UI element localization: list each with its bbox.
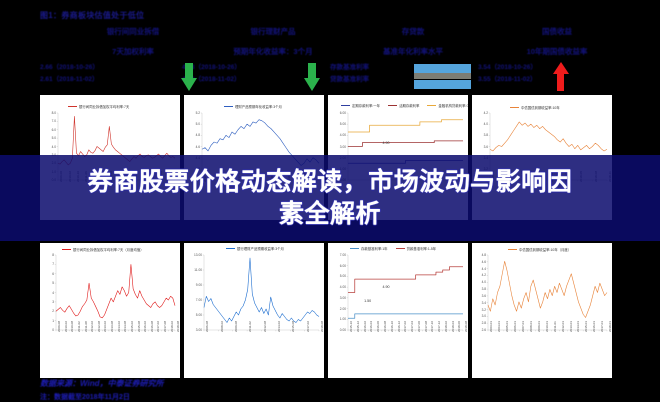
document-heading: 图1：券商板块估值处于低位 [40,10,144,21]
chart-5-legend: 银行间同业拆借加权平均利率:7天（月度均值） [62,247,144,252]
legend-swatch [508,249,517,250]
x-axis-tick: 2016-08 [150,321,154,332]
y-axis-tick: 5.00 [184,313,202,317]
x-axis-tick: 2004-01 [497,321,501,332]
legend-swatch [350,248,359,249]
legend-swatch [62,249,71,250]
y-axis-tick: 3.00 [328,145,346,149]
x-axis-tick: 2014-02 [117,321,121,332]
x-axis-tick: 2017-04 [410,321,414,332]
y-axis-tick: 2.6 [472,328,486,332]
data-label: 4.90 [383,285,390,289]
chart-panel-8: 中债国债到期收益率:10年（月度） 4.84.64.44.24.03.83.63… [472,243,612,378]
x-axis-tick: 2018-04 [451,321,455,332]
y-axis-tick: 1.00 [328,317,346,321]
x-axis-tick: 2018-02 [170,321,174,332]
y-axis-tick: 2.8 [472,321,486,325]
footer-source: 数据来源：Wind，中泰证券研究所 [40,378,440,389]
x-axis-tick: 2015-08 [137,321,141,332]
legend-label: 活期存款利率 [399,103,419,108]
x-axis-tick: 2017-08 [424,321,428,332]
x-axis-tick: 2013-02 [103,321,107,332]
title-line-1: 券商股票价格动态解读，市场波动与影响因 [88,167,573,197]
x-axis-tick: 2014-01 [576,321,580,332]
x-axis-tick: 2015-01 [584,321,588,332]
y-axis-tick: 5.0 [184,122,200,126]
x-axis-tick: 2005-01 [505,321,509,332]
x-axis-tick: 2011-01 [553,321,557,332]
y-axis-tick: 7.0 [40,119,56,123]
header-col2-heading2: 预期年化收益率：3个月 [198,46,348,57]
header-col3-heading1: 存贷款 [338,26,488,37]
legend-label: 银行间同业拆借加权平均利率:7天 [79,104,129,109]
y-axis-tick: 3.00 [328,296,346,300]
y-axis-tick: 0.00 [328,328,346,332]
header-col4-row2: 3.55（2018-11-02） [478,74,537,86]
x-axis-tick: 2010-08 [70,321,74,332]
header-col3-heading2: 基准年化利率水平 [338,46,488,57]
chart-3-legend: 定期存款利率:一年活期存款利率金融机构贷款利率:中长期 [341,103,468,108]
y-axis-tick: 3.6 [472,294,486,298]
y-axis-tick: 4.8 [472,253,486,257]
legend-swatch [396,248,405,249]
header-col4-row1: 3.54（2018-10-26） [478,62,537,74]
x-axis-tick: 2016-06 [376,321,380,332]
y-axis-tick: 3.0 [472,314,486,318]
y-axis-tick: 6.00 [328,111,346,115]
y-axis-tick: 4.0 [472,122,488,126]
y-axis-tick: 4.2 [472,111,488,115]
arrow-down-icon [303,63,321,91]
chart-2-legend: 理财产品预期年化收益率:3个月 [224,104,282,109]
y-axis-tick: 4.4 [472,267,486,271]
x-axis-tick: 2011-08 [84,321,88,332]
x-axis-tick: 2015-02 [130,321,134,332]
title-line-2: 素全解析 [279,199,381,229]
x-axis-tick: 2003-01 [489,321,493,332]
legend-label: 银行理财产品预期收益率:3个月 [237,246,284,251]
x-axis-tick: 2007-01 [521,321,525,332]
y-axis-tick: 0 [40,328,54,332]
x-axis-tick: 2012-08 [97,321,101,332]
x-axis-tick: 2017-02 [306,321,310,332]
y-axis-tick: 7.00 [328,253,346,257]
y-axis-tick: 4.0 [472,280,486,284]
y-axis-tick: 6.0 [40,128,56,132]
x-axis-tick: 2009-08 [57,321,61,332]
legend-swatch [427,105,436,106]
footer-block: 数据来源：Wind，中泰证券研究所 注：数据截至2018年11月2日 [40,378,440,402]
y-axis-tick: 11.00 [184,268,202,272]
x-axis-tick: 2018-06 [457,321,461,332]
x-axis-tick: 2013-08 [110,321,114,332]
chart-4-legend: 中债国债到期收益率:10年 [510,105,560,110]
chart-6-legend: 银行理财产品预期收益率:3个月 [226,246,284,251]
y-axis-tick: 4.00 [328,133,346,137]
header-col3-values: 存款基准利率 贷款基准利率 [330,62,369,86]
y-axis-tick: 3.8 [472,287,486,291]
header-column-1: 银行间同业拆借 7天加权利率 [58,26,208,57]
y-axis-tick: 3.8 [472,133,488,137]
x-axis-tick: 2010-01 [545,321,549,332]
legend-swatch [226,248,235,249]
x-axis-tick: 2018-08 [320,321,324,332]
x-axis-tick: 2008-01 [529,321,533,332]
y-axis-tick: 13.00 [184,253,202,257]
x-axis-tick: 2017-02 [403,321,407,332]
x-axis-tick: 2015-12 [356,321,360,332]
y-axis-tick: 6.00 [328,264,346,268]
footer-note: 注：数据截至2018年11月2日 [40,392,440,402]
header-col3-row2: 贷款基准利率 [330,74,369,86]
y-axis-tick: 4.6 [472,260,486,264]
data-label: 1.50 [364,299,371,303]
x-axis-tick: 2013-01 [569,321,573,332]
data-label: 4.90 [383,141,390,145]
y-axis-tick: 3.4 [472,301,486,305]
arrow-down-icon [180,63,198,91]
header-col4-values: 3.54（2018-10-26） 3.55（2018-11-02） [478,62,537,86]
header-column-2: 银行理财产品 预期年化收益率：3个月 [198,26,348,57]
x-axis-tick: 2012-01 [561,321,565,332]
header-column-4: 国债收益 10年期国债收益率 [482,26,632,57]
chart-panel-7: 存款基准利率:1年贷款基准利率:1-5年 7.006.005.004.003.0… [328,243,468,378]
legend-swatch [510,107,519,108]
y-axis-tick: 5.2 [184,111,200,115]
y-axis-tick: 5 [40,281,54,285]
title-overlay: 券商股票价格动态解读，市场波动与影响因 素全解析 [0,160,660,236]
x-axis-tick: 2016-12 [397,321,401,332]
header-block: 图1：券商板块估值处于低位 银行间同业拆借 7天加权利率 银行理财产品 预期年化… [0,0,660,95]
y-axis-tick: 5.00 [328,122,346,126]
arrow-up-icon [553,62,569,91]
header-col2-heading1: 银行理财产品 [198,26,348,37]
y-axis-tick: 5.00 [328,274,346,278]
y-axis-tick: 9.00 [184,283,202,287]
header-col4-heading2: 10年期国债收益率 [482,46,632,57]
x-axis-tick: 2011-02 [248,321,252,332]
chart-panel-5: 银行间同业拆借加权平均利率:7天（月度均值） 876543210 2009-08… [40,243,180,378]
y-axis-tick: 4.6 [184,145,200,149]
header-col1-heading1: 银行间同业拆借 [58,26,208,37]
y-axis-tick: 8.0 [40,111,56,115]
y-axis-tick: 4.00 [328,285,346,289]
chart-7-legend: 存款基准利率:1年贷款基准利率:1-5年 [350,246,436,251]
legend-swatch [341,105,350,106]
y-axis-tick: 3 [40,300,54,304]
y-axis-tick: 4 [40,291,54,295]
x-axis-tick: 2018-08 [176,321,180,332]
legend-label: 中债国债到期收益率:10年 [521,105,560,110]
x-axis-tick: 2006-08 [205,321,209,332]
x-axis-tick: 2017-10 [430,321,434,332]
header-col3-row1: 存款基准利率 [330,62,369,74]
slide-canvas: 图1：券商板块估值处于低位 银行间同业拆借 7天加权利率 银行理财产品 预期年化… [0,0,660,400]
x-axis-tick: 2009-01 [537,321,541,332]
header-col1-row1: 2.66（2018-10-26） [40,62,99,74]
y-axis-tick: 3.2 [472,308,486,312]
y-axis-tick: 3.6 [472,145,488,149]
x-axis-tick: 2015-08 [291,321,295,332]
y-axis-tick: 6 [40,272,54,276]
bar-stack-icon [414,64,471,90]
legend-label: 理财产品预期年化收益率:3个月 [235,104,282,109]
x-axis-tick: 2012-08 [263,321,267,332]
x-axis-tick: 2017-02 [156,321,160,332]
x-axis-tick: 2016-10 [390,321,394,332]
chart-8-legend: 中债国债到期收益率:10年（月度） [508,247,571,252]
legend-label: 金融机构贷款利率:中长期 [438,103,468,108]
x-axis-tick: 2018-01 [608,321,612,332]
y-axis-tick: 1 [40,319,54,323]
legend-label: 定期存款利率:一年 [352,103,380,108]
x-axis-tick: 2011-02 [77,321,81,332]
x-axis-tick: 2009-08 [234,321,238,332]
x-axis-tick: 2012-02 [90,321,94,332]
y-axis-tick: 2.00 [328,307,346,311]
header-col1-values: 2.66（2018-10-26） 2.61（2018-11-02） [40,62,99,86]
x-axis-tick: 2016-01 [592,321,596,332]
chart-1-legend: 银行间同业拆借加权平均利率:7天 [68,104,129,109]
x-axis-tick: 2016-02 [363,321,367,332]
legend-swatch [68,106,77,107]
x-axis-tick: 2017-12 [437,321,441,332]
y-axis-tick: 4.2 [472,273,486,277]
y-axis-tick: 8 [40,253,54,257]
header-col1-heading2: 7天加权利率 [58,46,208,57]
x-axis-tick: 2008-02 [220,321,224,332]
header-col4-heading1: 国债收益 [482,26,632,37]
legend-label: 存款基准利率:1年 [361,246,388,251]
x-axis-tick: 2010-02 [64,321,68,332]
x-axis-tick: 2017-01 [600,321,604,332]
x-axis-tick: 2016-02 [143,321,147,332]
x-axis-tick: 2015-10 [349,321,353,332]
y-axis-tick: 4.8 [184,133,200,137]
x-axis-tick: 2014-02 [277,321,281,332]
legend-swatch [388,105,397,106]
header-column-3: 存贷款 基准年化利率水平 [338,26,488,57]
y-axis-tick: 5.0 [40,136,56,140]
y-axis-tick: 3.00 [184,328,202,332]
legend-label: 银行间同业拆借加权平均利率:7天（月度均值） [73,247,144,252]
y-axis-tick: 2 [40,309,54,313]
legend-label: 贷款基准利率:1-5年 [407,246,437,251]
y-axis-tick: 7 [40,262,54,266]
x-axis-tick: 2016-04 [369,321,373,332]
x-axis-tick: 2018-02 [444,321,448,332]
y-axis-tick: 4.0 [40,145,56,149]
x-axis-tick: 2016-08 [383,321,387,332]
legend-swatch [224,106,233,107]
x-axis-tick: 2017-06 [417,321,421,332]
x-axis-tick: 2014-08 [123,321,127,332]
y-axis-tick: 7.00 [184,298,202,302]
x-axis-tick: 2017-08 [163,321,167,332]
header-col1-row2: 2.61（2018-11-02） [40,74,99,86]
x-axis-tick: 2006-01 [513,321,517,332]
x-axis-tick: 2018-08 [464,321,468,332]
legend-label: 中债国债到期收益率:10年（月度） [519,247,571,252]
chart-panel-6: 银行理财产品预期收益率:3个月 13.0011.009.007.005.003.… [184,243,324,378]
